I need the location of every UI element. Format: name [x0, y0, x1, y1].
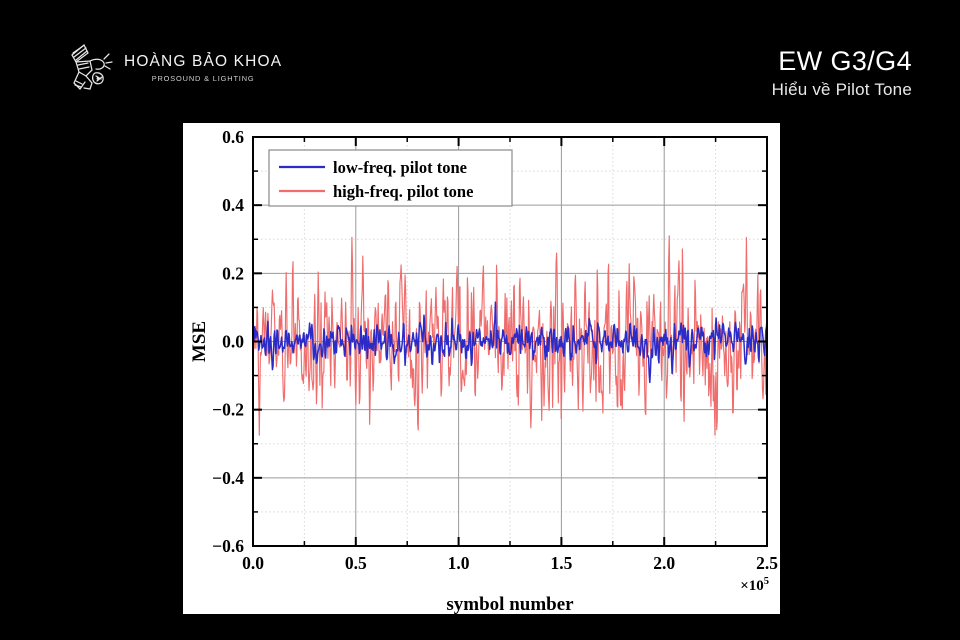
mse-line-chart: 0.00.51.01.52.02.5 0.60.40.20.0−0.2−0.4−…: [183, 123, 780, 614]
x-tick-label: 0.0: [242, 553, 264, 573]
brand-block: HOÀNG BẢO KHOA PROSOUND & LIGHTING: [62, 36, 312, 98]
legend-label-high-freq: high-freq. pilot tone: [333, 182, 473, 201]
x-axis-multiplier-exponent: 5: [764, 576, 769, 587]
y-tick-label: 0.2: [222, 263, 244, 283]
x-tick-label: 2.0: [653, 553, 675, 573]
y-tick-label: −0.2: [212, 400, 244, 420]
x-tick-label: 1.0: [448, 553, 470, 573]
x-tick-label: 0.5: [345, 553, 367, 573]
slide-subtitle: Hiểu về Pilot Tone: [772, 79, 912, 100]
y-tick-label: 0.0: [222, 332, 244, 352]
brand-text: HOÀNG BẢO KHOA PROSOUND & LIGHTING: [124, 51, 282, 82]
brand-name: HOÀNG BẢO KHOA: [124, 53, 282, 70]
abstract-figure-logo-icon: [62, 39, 114, 95]
chart-legend: low-freq. pilot tonehigh-freq. pilot ton…: [269, 150, 512, 206]
slide-canvas: HOÀNG BẢO KHOA PROSOUND & LIGHTING EW G3…: [0, 0, 960, 640]
figure-card: 0.00.51.01.52.02.5 0.60.40.20.0−0.2−0.4−…: [183, 123, 780, 614]
y-axis-title: MSE: [189, 321, 210, 362]
legend-label-low-freq: low-freq. pilot tone: [333, 158, 467, 177]
x-tick-label: 2.5: [756, 553, 778, 573]
x-axis-title: symbol number: [446, 594, 574, 614]
brand-tagline: PROSOUND & LIGHTING: [124, 74, 282, 83]
x-tick-label: 1.5: [550, 553, 572, 573]
y-tick-label: 0.6: [222, 127, 244, 147]
y-tick-label: −0.4: [212, 468, 244, 488]
y-tick-label: 0.4: [222, 195, 244, 215]
y-tick-label: −0.6: [212, 536, 244, 556]
slide-title: EW G3/G4: [772, 46, 912, 77]
slide-title-block: EW G3/G4 Hiểu về Pilot Tone: [772, 46, 912, 100]
